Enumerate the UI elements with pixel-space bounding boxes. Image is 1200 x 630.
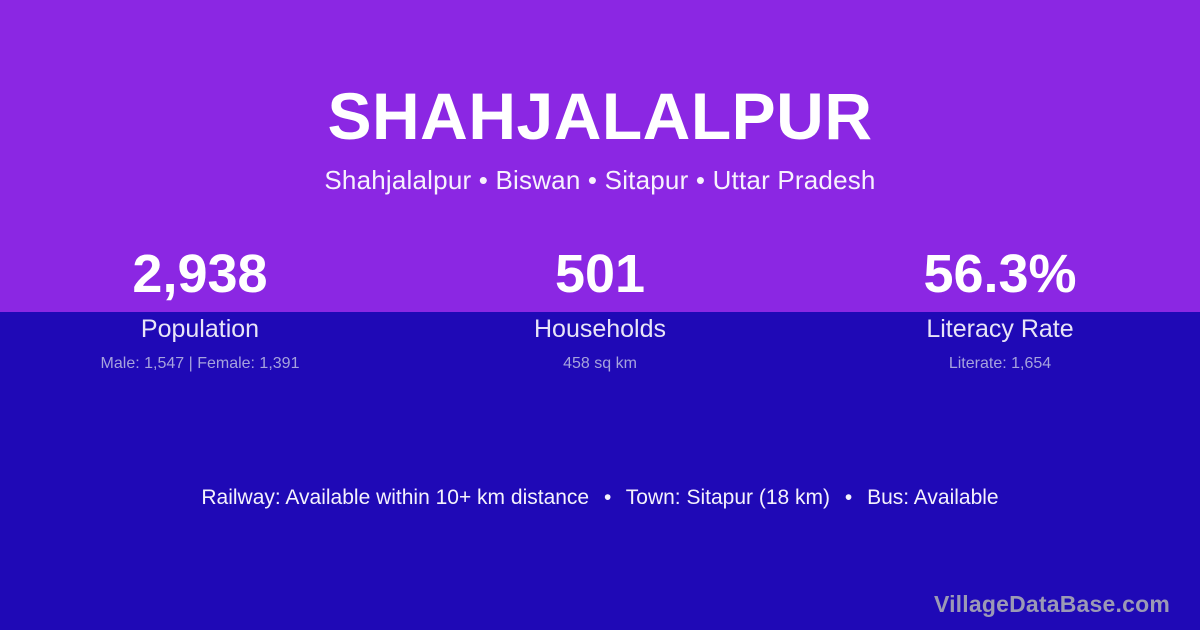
stat-population-label: Population: [0, 316, 400, 344]
stat-households-label: Households: [400, 316, 800, 344]
page-title: SHAHJALALPUR: [0, 82, 1200, 151]
breadcrumb: Shahjalalpur • Biswan • Sitapur • Uttar …: [0, 165, 1200, 196]
header: SHAHJALALPUR Shahjalalpur • Biswan • Sit…: [0, 0, 1200, 196]
stat-literacy-rate: 56.3% Literacy Rate Literate: 1,654: [800, 247, 1200, 372]
stat-households-value: 501: [400, 247, 800, 301]
stat-households: 501 Households 458 sq km: [400, 247, 800, 372]
stat-households-detail: 458 sq km: [400, 355, 800, 373]
stat-population: 2,938 Population Male: 1,547 | Female: 1…: [0, 247, 400, 372]
amenity-nearest-town: Town: Sitapur (18 km): [626, 486, 830, 509]
stat-literacy-rate-value: 56.3%: [800, 247, 1200, 301]
amenities-bar: Railway: Available within 10+ km distanc…: [0, 486, 1200, 510]
amenity-bus: Bus: Available: [867, 486, 999, 509]
amenity-railway: Railway: Available within 10+ km distanc…: [201, 486, 589, 509]
site-brand-watermark: VillageDataBase.com: [934, 591, 1170, 618]
amenity-separator-icon: •: [595, 486, 620, 510]
stat-literacy-rate-label: Literacy Rate: [800, 316, 1200, 344]
statistics-row: 2,938 Population Male: 1,547 | Female: 1…: [0, 247, 1200, 372]
village-info-card: SHAHJALALPUR Shahjalalpur • Biswan • Sit…: [0, 0, 1200, 630]
stat-population-value: 2,938: [0, 247, 400, 301]
stat-literacy-rate-detail: Literate: 1,654: [800, 355, 1200, 373]
amenity-separator-icon: •: [836, 486, 861, 510]
stat-population-detail: Male: 1,547 | Female: 1,391: [0, 355, 400, 373]
